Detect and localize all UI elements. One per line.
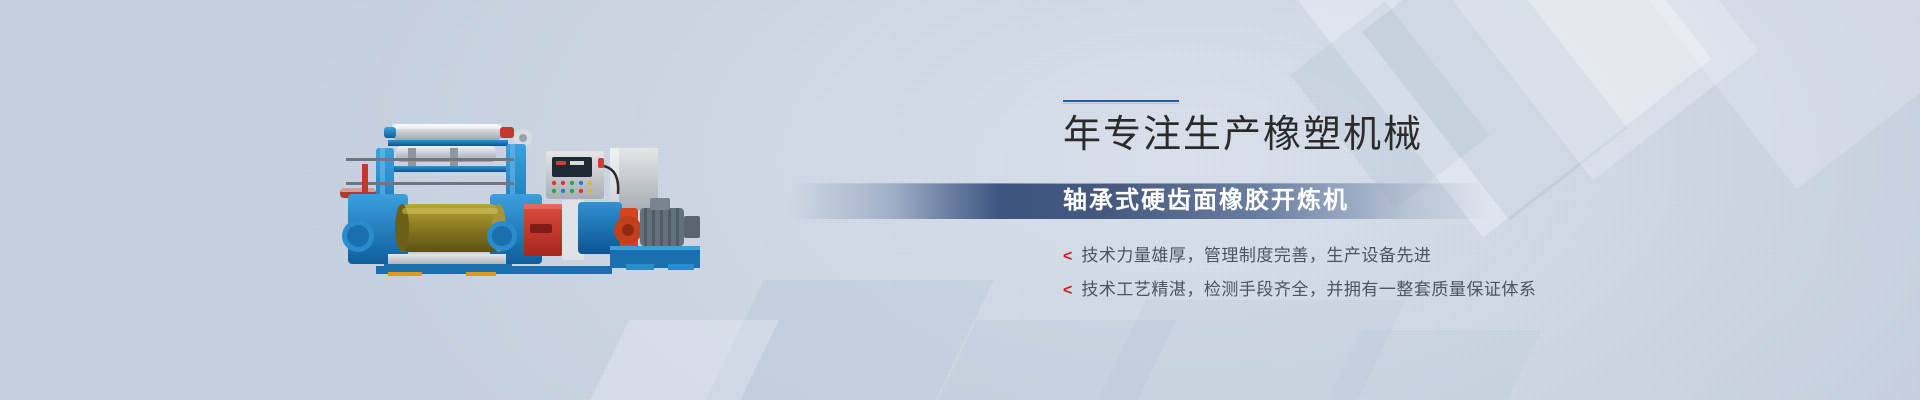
title-rule-light	[1063, 103, 1179, 104]
decorative-polygon-7	[903, 320, 1176, 400]
product-bar-label: 轴承式硬齿面橡胶开炼机	[1063, 183, 1349, 219]
page-title: 年专注生产橡塑机械	[1063, 112, 1823, 158]
list-item: < 技术力量雄厚，管理制度完善，生产设备先进	[1063, 246, 1536, 267]
product-bar: 轴承式硬齿面橡胶开炼机	[790, 183, 1490, 219]
list-item: < 技术工艺精湛，检测手段齐全，并拥有一整套质量保证体系	[1063, 280, 1536, 301]
chevron-left-icon: <	[1063, 281, 1072, 301]
decorative-polygon-9	[571, 320, 780, 400]
title-rule	[1063, 100, 1179, 104]
title-rule-blue	[1063, 100, 1179, 102]
feature-list: < 技术力量雄厚，管理制度完善，生产设备先进 < 技术工艺精湛，检测手段齐全，并…	[1063, 246, 1536, 314]
banner-content: 年专注生产橡塑机械 轴承式硬齿面橡胶开炼机 < 技术力量雄厚，管理制度完善，生产…	[1063, 100, 1823, 158]
decorative-polygon-10	[1279, 330, 1542, 400]
machine-photo	[280, 96, 700, 276]
decorative-polygon-8	[1054, 300, 1407, 400]
list-item-label: 技术工艺精湛，检测手段齐全，并拥有一整套质量保证体系	[1081, 280, 1536, 300]
list-item-label: 技术力量雄厚，管理制度完善，生产设备先进	[1081, 246, 1431, 266]
hero-banner: 年专注生产橡塑机械 轴承式硬齿面橡胶开炼机 < 技术力量雄厚，管理制度完善，生产…	[0, 0, 1920, 400]
chevron-left-icon: <	[1063, 247, 1072, 267]
decorative-polygon-5	[1618, 0, 1920, 189]
decorative-polygon-6	[676, 280, 994, 400]
